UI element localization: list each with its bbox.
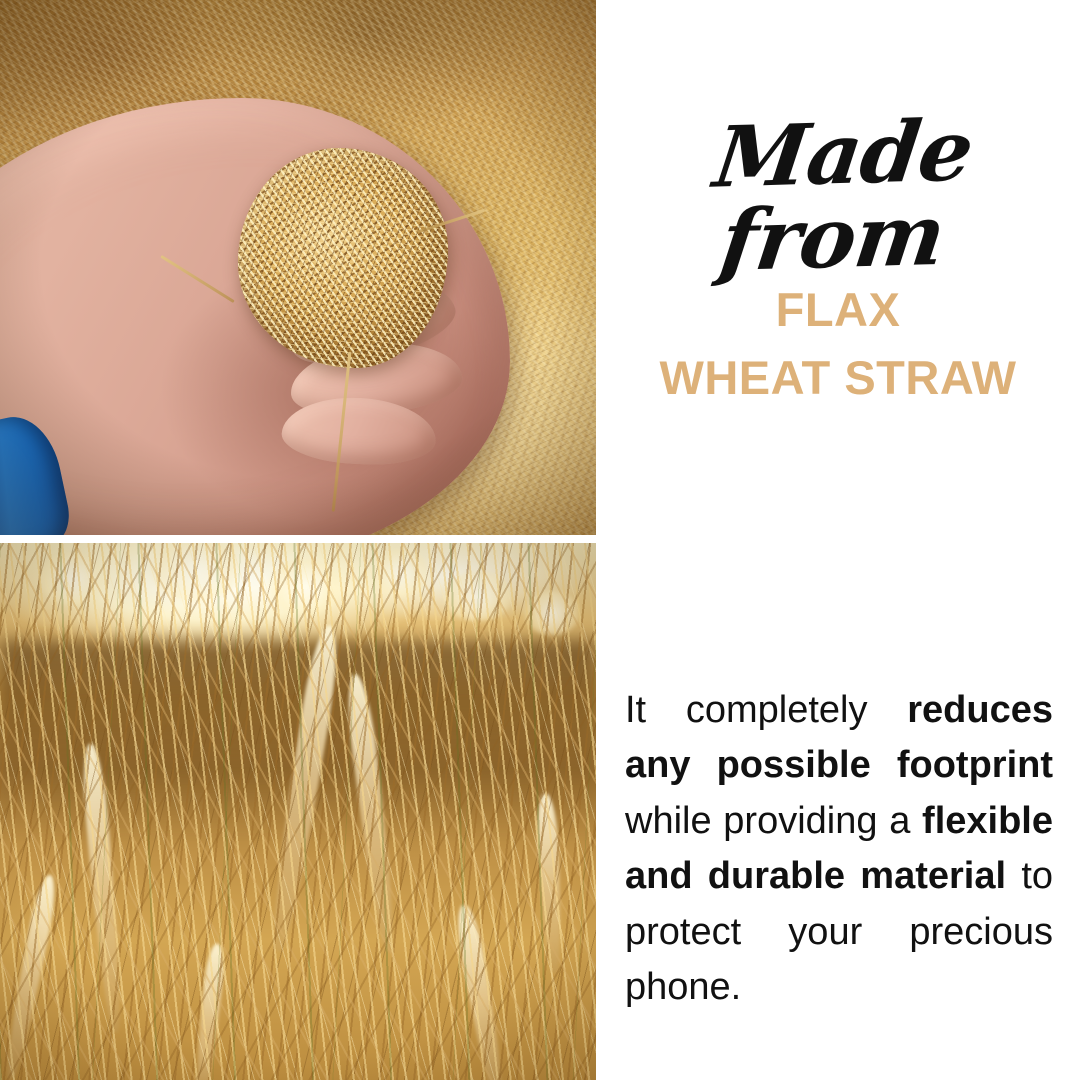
photo-vignette (0, 543, 596, 1080)
subhead-line-flax: FLAX (596, 276, 1080, 344)
subhead-line-wheat-straw: WHEAT STRAW (596, 344, 1080, 412)
poster-canvas: Made from FLAX WHEAT STRAW It completely… (0, 0, 1080, 1080)
body-text-part-1: It completely (625, 689, 907, 731)
golden-grass-field-photo (0, 543, 596, 1080)
body-paragraph: It completely reduces any possible footp… (625, 683, 1053, 1071)
body-text-part-2: while providing a (625, 800, 922, 842)
content-column: Made from FLAX WHEAT STRAW It completely… (596, 0, 1080, 1080)
photo-vignette (0, 0, 596, 535)
subhead-material-list: FLAX WHEAT STRAW (596, 276, 1080, 411)
media-column (0, 0, 596, 1080)
headline-script: Made from (584, 105, 1080, 286)
hand-holding-straw-photo (0, 0, 596, 535)
